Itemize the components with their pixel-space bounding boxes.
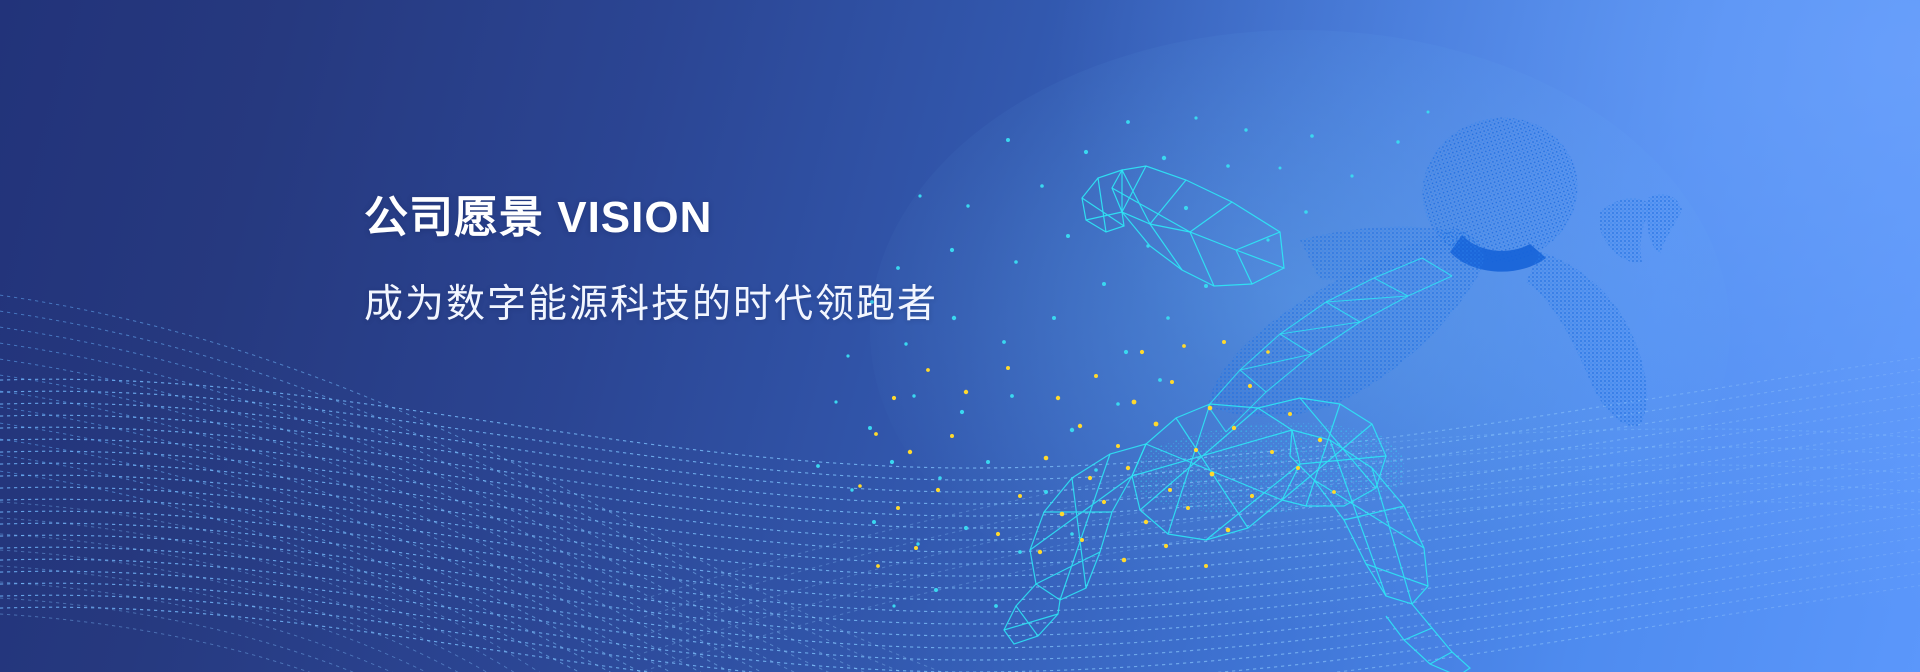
runner-head — [1405, 99, 1595, 280]
runner-forward-arm — [1526, 194, 1682, 426]
runner-hips — [1132, 398, 1386, 540]
banner-copy: 公司愿景 VISION 成为数字能源科技的时代领跑者 — [364, 192, 938, 329]
page-title: 公司愿景 VISION — [364, 192, 938, 244]
particle-field-cyan — [816, 111, 1429, 608]
wave-lines-graphic — [0, 0, 1920, 672]
runner-rear-arm — [1082, 166, 1284, 286]
runner-torso — [1208, 227, 1483, 417]
vision-banner: 公司愿景 VISION 成为数字能源科技的时代领跑者 — [0, 0, 1920, 672]
page-subtitle: 成为数字能源科技的时代领跑者 — [364, 244, 938, 329]
runner-figure-graphic — [0, 0, 1920, 672]
runner-back-mesh — [1208, 258, 1452, 432]
runner-trailing-leg — [1004, 444, 1146, 644]
particle-field-yellow — [858, 340, 1336, 568]
runner-lead-leg — [1290, 430, 1470, 672]
